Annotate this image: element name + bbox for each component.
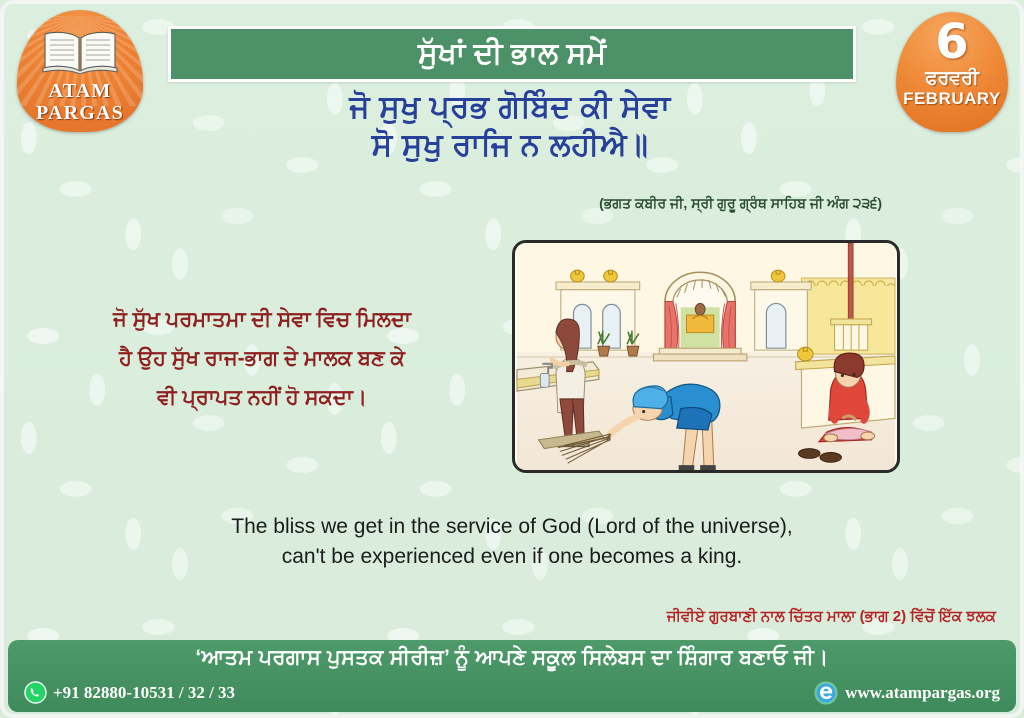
footer-website[interactable]: www.atampargas.org [814,681,1000,705]
verse-citation: (ਭਗਤ ਕਬੀਰ ਜੀ, ਸ੍ਰੀ ਗੁਰੂ ਗ੍ਰੰਥ ਸਾਹਿਬ ਜੀ ਅ… [130,195,890,212]
explanation-line-3: ਵੀ ਪ੍ਰਾਪਤ ਨਹੀਂ ਹੋ ਸਕਦਾ। [22,378,502,417]
date-month-english: FEBRUARY [896,89,1008,108]
date-month-punjabi: ਫਰਵਰੀ [896,68,1008,89]
poster-root: ATAM PARGAS 6 ਫਰਵਰੀ FEBRUARY ਸੁੱਖਾਂ ਦੀ ਭ… [0,0,1024,718]
translation-line-2: can't be experienced even if one becomes… [70,542,954,572]
verse-line-2: ਸੋ ਸੁਖੁ ਰਾਜਿ ਨ ਲਹੀਐ॥ [130,126,890,164]
footer-bar: ‘ਆਤਮ ਪਰਗਾਸ ਪੁਸਤਕ ਸੀਰੀਜ਼’ ਨੂੰ ਆਪਣੇ ਸਕੂਲ ਸ… [8,640,1016,712]
open-book-icon [40,30,120,74]
atam-pargas-logo[interactable]: ATAM PARGAS [17,10,143,132]
footer-phone: +91 82880-10531 / 32 / 33 [53,683,235,703]
footer-contact[interactable]: +91 82880-10531 / 32 / 33 [24,681,235,704]
footer-tagline: ‘ਆਤਮ ਪਰਗਾਸ ਪੁਸਤਕ ਸੀਰੀਜ਼’ ਨੂੰ ਆਪਣੇ ਸਕੂਲ ਸ… [8,646,1016,670]
page-title: ਸੁੱਖਾਂ ਦੀ ਭਾਲ ਸਮੇਂ [168,26,856,82]
footer-website-text: www.atampargas.org [845,683,1000,703]
gurbani-verse: ਜੋ ਸੁਖੁ ਪ੍ਰਭ ਗੋਬਿੰਦ ਕੀ ਸੇਵਾ ਸੋ ਸੁਖੁ ਰਾਜਿ… [130,88,890,164]
date-day-number: 6 [896,16,1008,68]
explanation-line-2: ਹੈ ਉਹ ਸੁੱਖ ਰਾਜ-ਭਾਗ ਦੇ ਮਾਲਕ ਬਣ ਕੇ [22,339,502,378]
whatsapp-icon [24,681,47,704]
logo-label-line1: ATAM [17,80,143,103]
series-note: ਜੀਵੀਏ ਗੁਰਬਾਣੀ ਨਾਲ ਚਿੱਤਰ ਮਾਲਾ (ਭਾਗ 2) ਵਿੱ… [150,608,1010,625]
translation-line-1: The bliss we get in the service of God (… [70,512,954,542]
internet-explorer-icon [814,681,838,705]
gurdwara-seva-illustration [512,240,900,473]
punjabi-explanation: ਜੋ ਸੁੱਖ ਪਰਮਾਤਮਾ ਦੀ ਸੇਵਾ ਵਿਚ ਮਿਲਦਾ ਹੈ ਉਹ … [22,300,502,417]
explanation-line-1: ਜੋ ਸੁੱਖ ਪਰਮਾਤਮਾ ਦੀ ਸੇਵਾ ਵਿਚ ਮਿਲਦਾ [22,300,502,339]
logo-label-line2: PARGAS [17,102,143,125]
english-translation: The bliss we get in the service of God (… [70,512,954,572]
date-badge: 6 ਫਰਵਰੀ FEBRUARY [896,12,1008,132]
verse-line-1: ਜੋ ਸੁਖੁ ਪ੍ਰਭ ਗੋਬਿੰਦ ਕੀ ਸੇਵਾ [130,88,890,126]
